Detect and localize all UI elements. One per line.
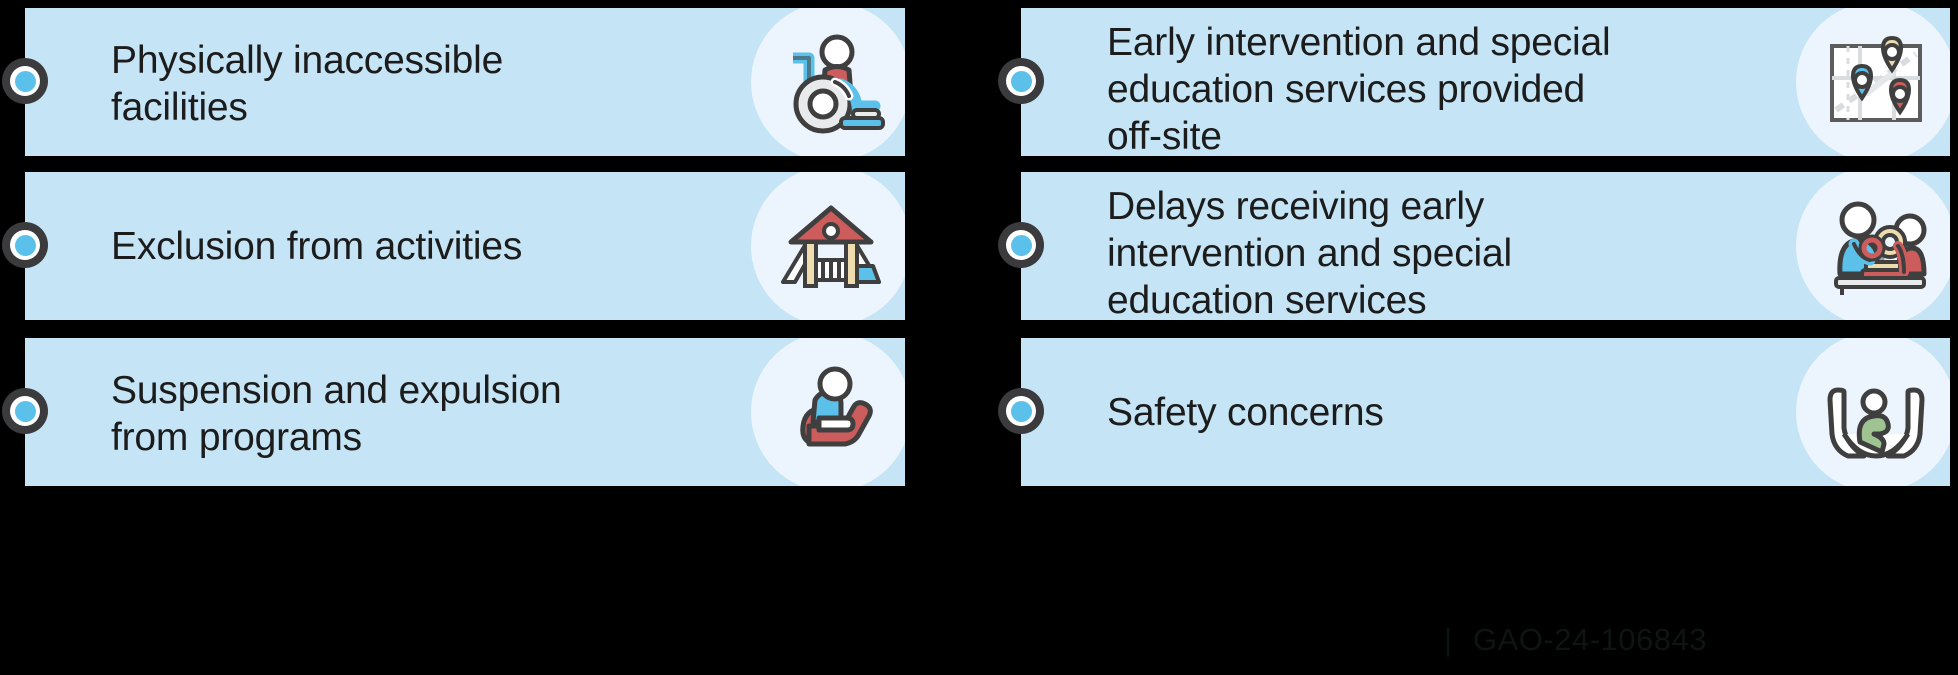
card-suspension-and-expulsion[interactable]: Suspension and expulsion from programs [25,338,905,486]
bullet-ring [1006,230,1036,260]
therapy-session-icon-circle [1796,172,1950,320]
card-physically-inaccessible-facilities[interactable]: Physically inaccessible facilities [25,8,905,156]
bullet-dot [15,401,36,422]
child-in-hands-icon-circle [1796,338,1950,486]
infographic-board: Physically inaccessible facilities [0,0,1958,675]
card-label: Early intervention and special education… [1107,20,1727,156]
bullet-dot [15,235,36,256]
bullet-marker [2,388,48,434]
map-pins-icon-circle [1796,8,1950,156]
card-exclusion-from-activities[interactable]: Exclusion from activities [25,172,905,320]
card-label: Suspension and expulsion from programs [111,368,671,462]
bullet-ring [10,66,40,96]
child-in-hands-icon [1820,356,1932,468]
bullet-dot [1011,235,1032,256]
bullet-marker [2,222,48,268]
wheelchair-user-icon [775,26,887,138]
bullet-dot [1011,401,1032,422]
playground-icon-circle [751,172,905,320]
card-safety-concerns[interactable]: Safety concerns [1021,338,1950,486]
bullet-ring [10,230,40,260]
bullet-marker [998,222,1044,268]
bullet-dot [15,71,36,92]
bullet-ring [1006,66,1036,96]
card-services-provided-off-site[interactable]: Early intervention and special education… [1021,8,1950,156]
bullet-marker [2,58,48,104]
bullet-dot [1011,71,1032,92]
seated-child-icon [775,356,887,468]
map-pins-icon [1820,26,1932,138]
footer-report-id: GAO-24-106843 [1473,622,1707,658]
wheelchair-user-icon-circle [751,8,905,156]
seated-child-icon-circle [751,338,905,486]
card-label: Safety concerns [1107,390,1727,437]
footer-divider: | [1444,622,1453,658]
card-label: Physically inaccessible facilities [111,38,591,132]
bullet-ring [1006,396,1036,426]
therapy-session-icon [1820,190,1932,302]
bullet-ring [10,396,40,426]
card-delays-receiving-services[interactable]: Delays receiving early intervention and … [1021,172,1950,320]
card-label: Exclusion from activities [111,224,631,271]
bullet-marker [998,388,1044,434]
bullet-marker [998,58,1044,104]
card-label: Delays receiving early intervention and … [1107,184,1727,320]
playground-icon [775,190,887,302]
